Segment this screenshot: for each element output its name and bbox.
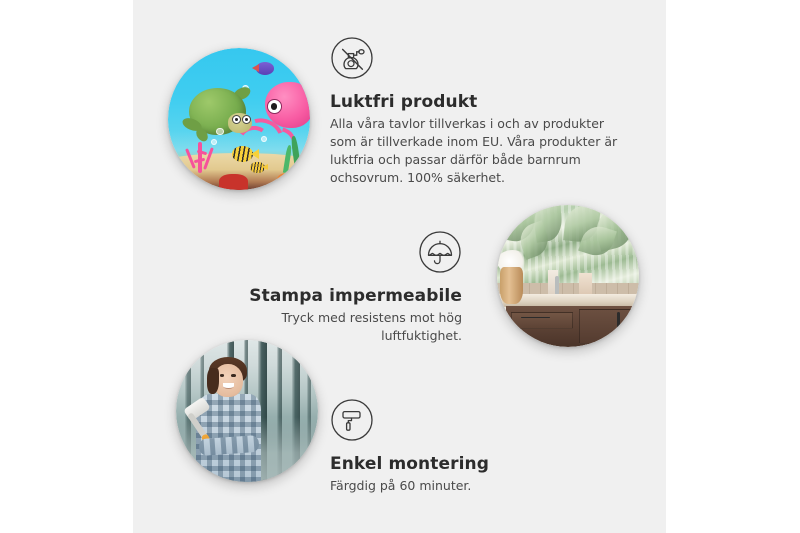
octopus-eye [267,99,282,114]
person-folded-arms [198,434,259,455]
feature-description: Färgdig på 60 minuter. [330,477,610,495]
feature-title: Enkel montering [330,454,610,474]
door-handle-icon [617,312,621,331]
feature-odour-free: Luktfri produkt Alla våra tavlor tillver… [330,36,630,186]
person-eye [231,374,235,377]
crab-icon [219,174,247,190]
feature-description: Alla våra tavlor tillverkas i och av pro… [330,115,618,186]
wooden-vase [500,267,523,304]
drawer-handle-icon [521,317,550,319]
vanity-drawer [511,312,573,330]
umbrella-icon [418,230,462,274]
paint-roller-icon [330,398,374,442]
yellow-striped-fish-icon [232,146,253,162]
underwater-cartoon-circle [168,48,310,190]
person-eye [220,374,224,377]
turtle-eye [232,115,241,124]
person-hair-side [207,368,218,394]
bubble-icon [211,139,217,145]
starfish-icon [277,173,298,187]
wooden-vanity [506,306,637,347]
forest-decorator-circle [176,340,318,482]
bathroom-interior-circle [497,205,639,347]
turtle-eye [242,115,251,124]
person-smile [223,383,234,389]
feature-title: Luktfri produkt [330,92,630,112]
vanity-door [579,309,631,344]
promo-banner: Luktfri produkt Alla våra tavlor tillver… [0,0,800,533]
small-fish-icon [250,162,264,173]
feature-water-resistant: Stampa impermeabile Tryck med resistens … [222,230,462,345]
bubble-icon [216,128,224,136]
feature-easy-mounting: Enkel montering Färgdig på 60 minuter. [330,398,610,495]
no-perfume-icon [330,36,374,80]
feature-title: Stampa impermeabile [222,286,462,306]
